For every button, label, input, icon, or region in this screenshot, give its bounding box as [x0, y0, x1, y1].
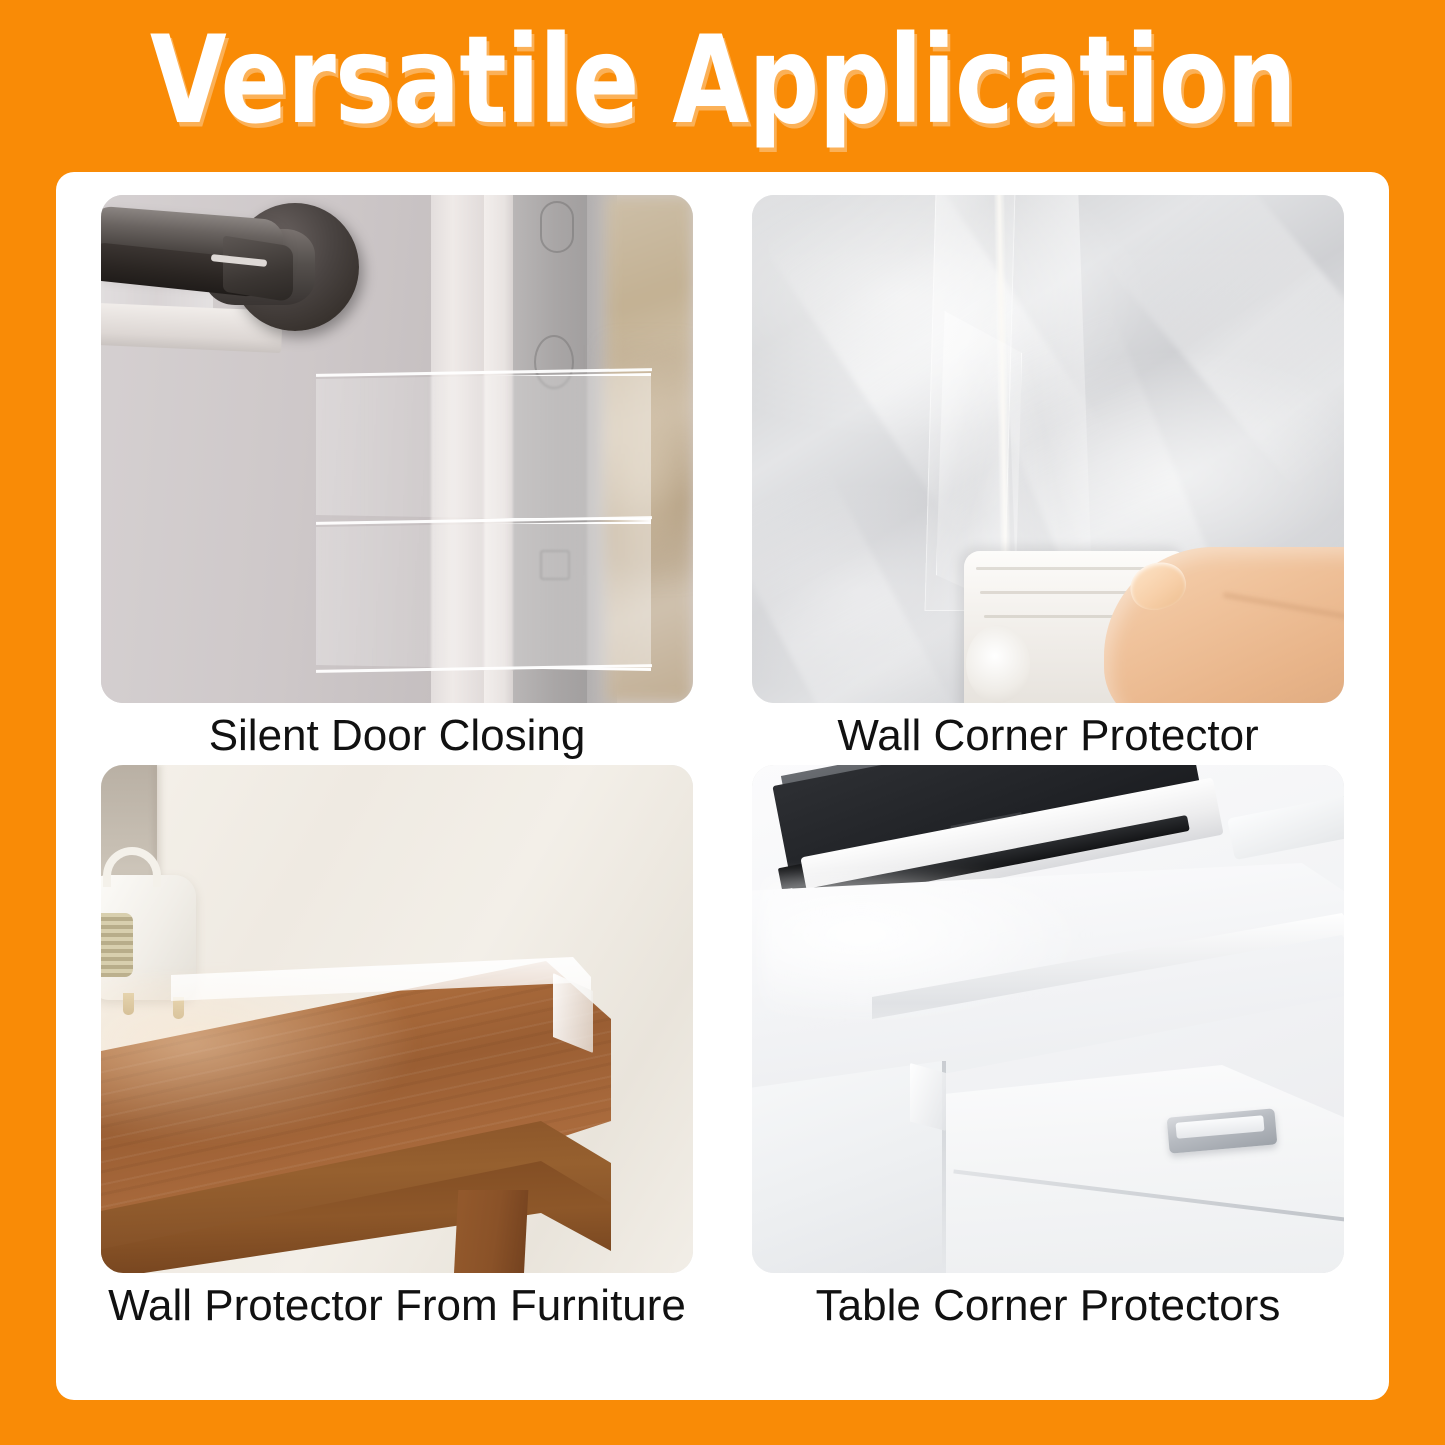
page-title: Versatile Application [149, 21, 1295, 151]
content-card: Silent Door Closing [56, 172, 1389, 1400]
desk-top-sheen [101, 975, 421, 1145]
corner-guard-bottom [316, 521, 651, 671]
door-latch-slot-icon [540, 201, 574, 253]
tile-caption-wall-corner-protector: Wall Corner Protector [752, 707, 1344, 765]
grid-cell-silent-door-closing: Silent Door Closing [101, 195, 693, 765]
door-handle-tip [223, 235, 293, 302]
photo-table-corner-protectors [752, 765, 1344, 1273]
photo-wall-protector-from-furniture [101, 765, 693, 1273]
tile-caption-table-corner-protectors: Table Corner Protectors [752, 1277, 1344, 1335]
appliance-grill-icon [101, 913, 133, 977]
grid-cell-wall-protector-from-furniture: Wall Protector From Furniture [101, 765, 693, 1335]
photo-wall-corner-protector [752, 195, 1344, 703]
tile-caption-silent-door-closing: Silent Door Closing [101, 707, 693, 765]
tape-roll-core [966, 625, 1030, 703]
photo-silent-door-closing [101, 195, 693, 703]
grid-cell-wall-corner-protector: Wall Corner Protector [752, 195, 1344, 765]
product-infographic-poster: Versatile Application [0, 0, 1445, 1445]
corner-guard-middle [316, 373, 651, 521]
clear-table-edge-protector-corner [910, 1063, 946, 1131]
tile-caption-wall-protector-from-furniture: Wall Protector From Furniture [101, 1277, 693, 1335]
application-grid: Silent Door Closing [101, 195, 1344, 1335]
desk-leg [454, 1190, 529, 1273]
title-bar: Versatile Application [0, 0, 1445, 172]
grid-cell-table-corner-protectors: Table Corner Protectors [752, 765, 1344, 1335]
